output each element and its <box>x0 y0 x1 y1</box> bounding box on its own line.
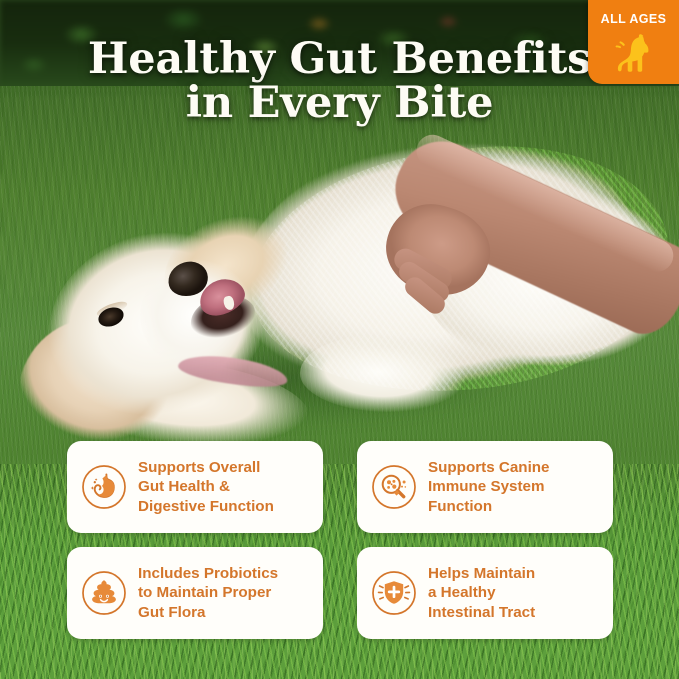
benefit-card-text: Supports Overall Gut Health & Digestive … <box>138 458 274 515</box>
card-line-1: Supports Overall <box>138 458 274 477</box>
benefit-card-probiotics: Includes Probiotics to Maintain Proper G… <box>67 547 323 639</box>
benefit-card-intestinal-tract: Helps Maintain a Healthy Intestinal Trac… <box>357 547 613 639</box>
headline-line-2: in Every Bite <box>26 82 653 126</box>
card-line-2: a Healthy <box>428 583 535 602</box>
shield-cross-icon <box>371 570 417 616</box>
headline-line-1: Healthy Gut Benefits <box>88 34 591 84</box>
card-line-1: Includes Probiotics <box>138 564 278 583</box>
benefit-cards: Supports Overall Gut Health & Digestive … <box>67 441 613 639</box>
benefit-card-immune-system: Supports Canine Immune System Function <box>357 441 613 533</box>
card-line-3: Function <box>428 497 550 516</box>
card-line-2: Gut Health & <box>138 477 274 496</box>
all-ages-badge: ALL AGES <box>588 0 679 84</box>
probiotic-poop-icon <box>81 570 127 616</box>
all-ages-badge-label: ALL AGES <box>601 12 667 26</box>
benefit-card-text: Includes Probiotics to Maintain Proper G… <box>138 564 278 621</box>
card-line-3: Intestinal Tract <box>428 603 535 622</box>
product-benefit-poster: Healthy Gut Benefits in Every Bite ALL A… <box>0 0 679 679</box>
benefit-card-text: Helps Maintain a Healthy Intestinal Trac… <box>428 564 535 621</box>
card-line-1: Helps Maintain <box>428 564 535 583</box>
benefit-card-gut-health: Supports Overall Gut Health & Digestive … <box>67 441 323 533</box>
headline: Healthy Gut Benefits in Every Bite <box>0 38 679 126</box>
benefit-card-text: Supports Canine Immune System Function <box>428 458 550 515</box>
card-line-2: to Maintain Proper <box>138 583 278 602</box>
card-line-3: Gut Flora <box>138 603 278 622</box>
card-line-1: Supports Canine <box>428 458 550 477</box>
stomach-icon <box>81 464 127 510</box>
card-line-2: Immune System <box>428 477 550 496</box>
sitting-dog-icon <box>607 30 661 81</box>
card-line-3: Digestive Function <box>138 497 274 516</box>
magnifier-microbe-icon <box>371 464 417 510</box>
